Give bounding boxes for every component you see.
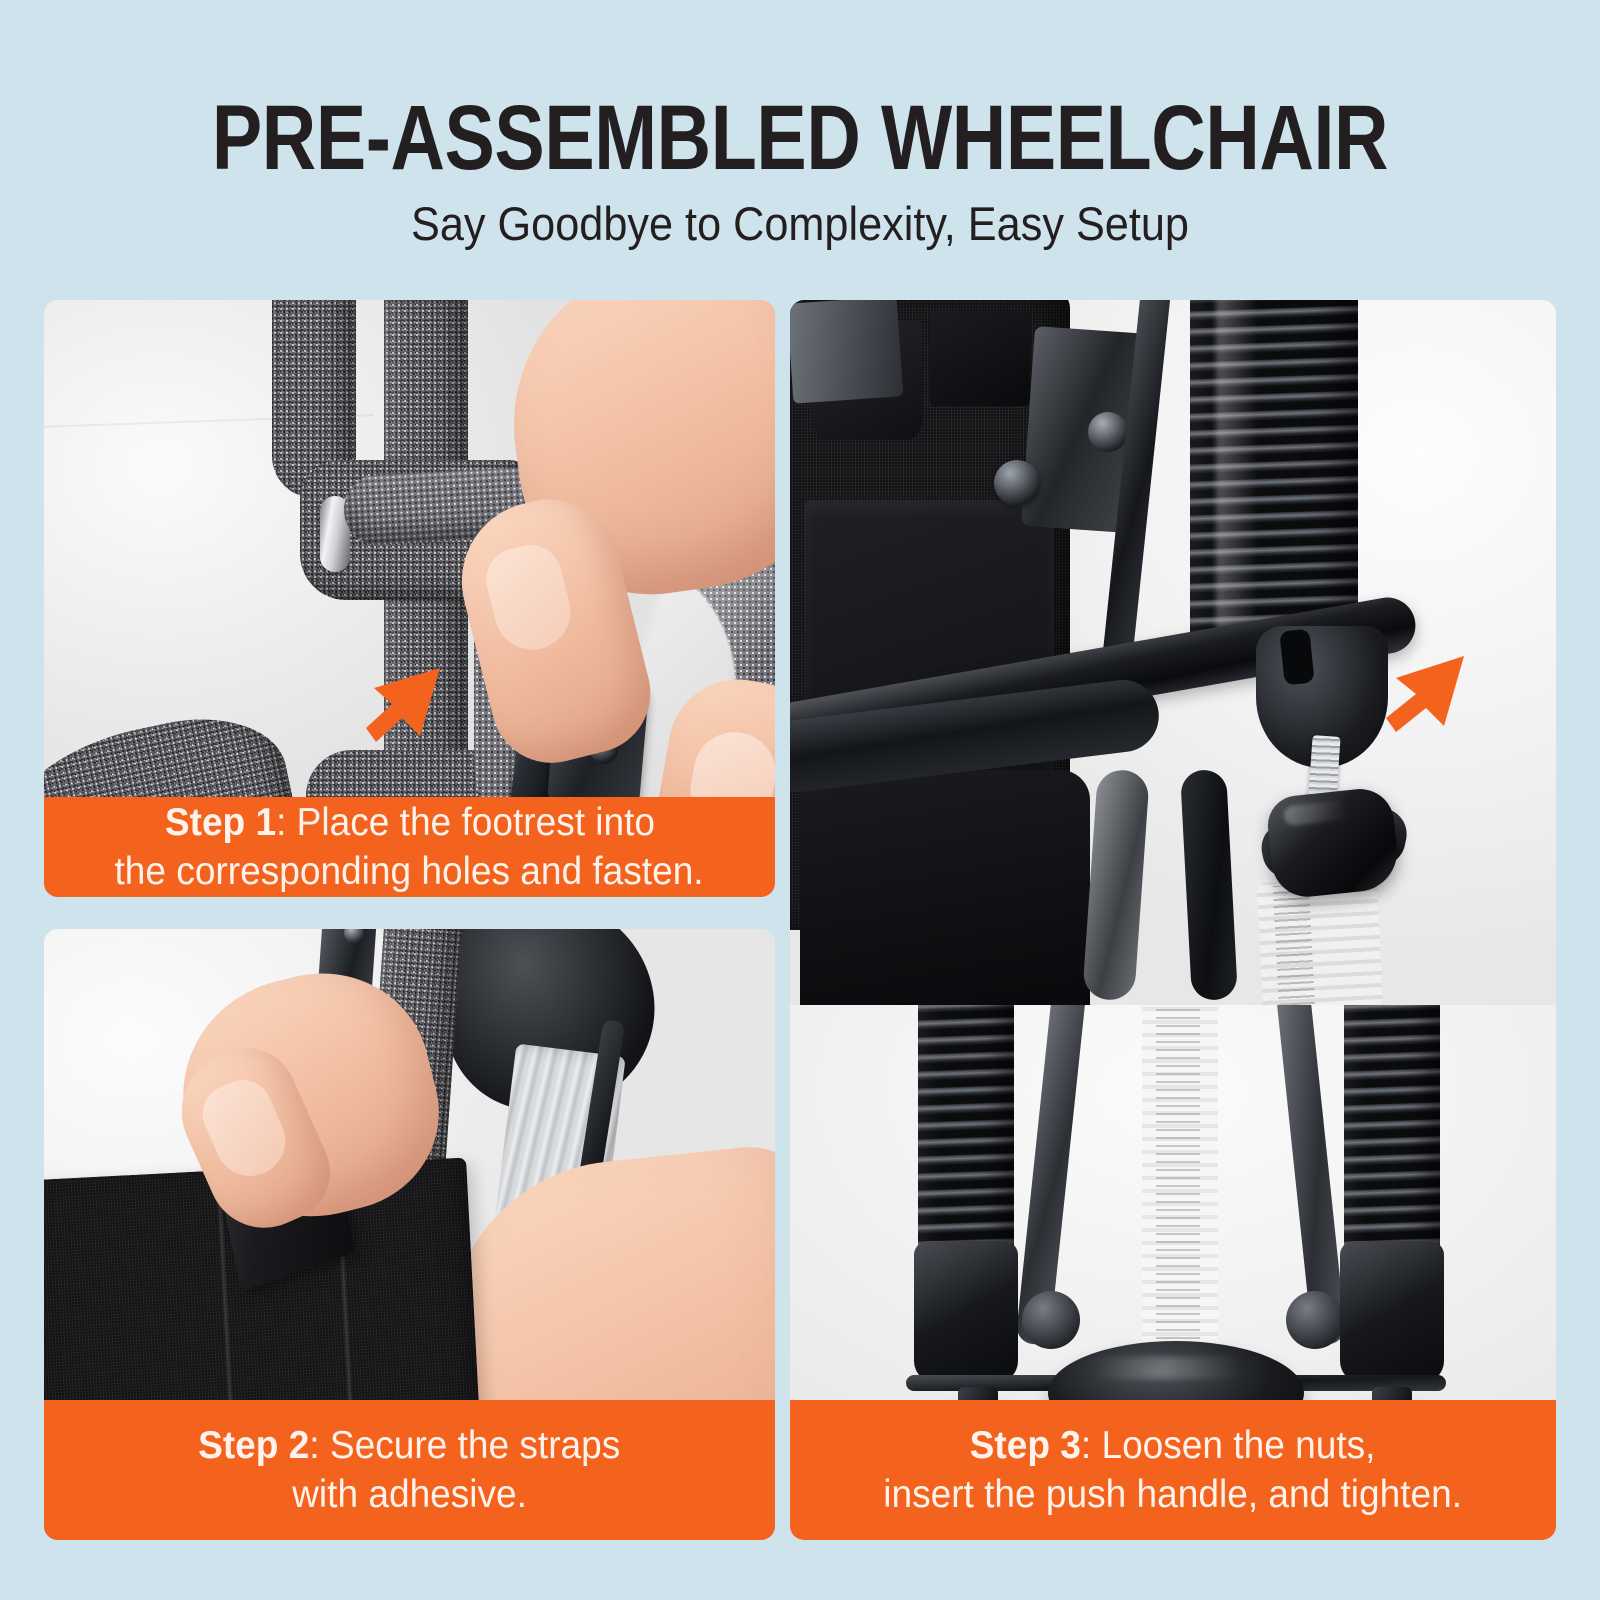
step-2-text-1: Secure the straps xyxy=(330,1424,620,1467)
rear-tire-tread xyxy=(1273,884,1315,1005)
step-2-label: Step 2 xyxy=(198,1424,309,1467)
page-subtitle: Say Goodbye to Complexity, Easy Setup xyxy=(64,198,1536,250)
inner-frame-tip xyxy=(1286,1291,1344,1349)
step-3-caption: Step 3: Loosen the nuts, insert the push… xyxy=(790,1400,1556,1540)
push-handle-base-right xyxy=(1340,1241,1444,1383)
step-2-caption: Step 2: Secure the straps with adhesive. xyxy=(44,1400,775,1540)
step-1-label: Step 1 xyxy=(164,801,275,844)
hinge-bracket xyxy=(790,300,903,404)
push-handle-base-left xyxy=(914,1241,1018,1383)
fabric-tab xyxy=(930,310,1030,406)
fabric-lower-section xyxy=(800,770,1090,1005)
step-1-separator: : xyxy=(276,801,297,844)
hinge-bolt xyxy=(1088,412,1128,452)
step-1-caption-line-1: Step 1: Place the footrest into xyxy=(164,798,654,847)
direction-arrow-icon xyxy=(1382,648,1476,740)
step-2-separator: : xyxy=(310,1424,331,1467)
handle-socket-slot xyxy=(1279,629,1314,686)
page-title: PRE-ASSEMBLED WHEELCHAIR xyxy=(144,92,1456,184)
step-3-caption-line-1: Step 3: Loosen the nuts, xyxy=(970,1421,1376,1470)
center-back-pad-highlight xyxy=(1090,1357,1240,1379)
step-3-text-1: Loosen the nuts, xyxy=(1102,1424,1376,1467)
step-3-caption-line-2: insert the push handle, and tighten. xyxy=(884,1470,1463,1519)
step-1-caption-line-2: the corresponding holes and fasten. xyxy=(115,847,704,896)
push-handle-highlight xyxy=(1216,300,1258,650)
step-2-caption-line-2: with adhesive. xyxy=(292,1470,527,1519)
step-1-text-1: Place the footrest into xyxy=(296,801,654,844)
step-2-caption-line-1: Step 2: Secure the straps xyxy=(198,1421,620,1470)
push-handle-grip-left xyxy=(918,1005,1014,1279)
direction-arrow-icon xyxy=(362,662,452,750)
step-3-label: Step 3 xyxy=(970,1424,1081,1467)
push-handle-knob-photo xyxy=(790,300,1556,1005)
hinge-bolt xyxy=(994,460,1040,506)
infographic-header: PRE-ASSEMBLED WHEELCHAIR Say Goodbye to … xyxy=(0,0,1600,292)
step-3-photo-panel-upper xyxy=(790,300,1556,1005)
step-1-caption: Step 1: Place the footrest into the corr… xyxy=(44,797,775,897)
inner-frame-tip xyxy=(1022,1291,1080,1349)
push-handle-grip-right xyxy=(1344,1005,1440,1279)
step-3-separator: : xyxy=(1081,1424,1102,1467)
rear-tire-tread xyxy=(1156,1005,1200,1345)
